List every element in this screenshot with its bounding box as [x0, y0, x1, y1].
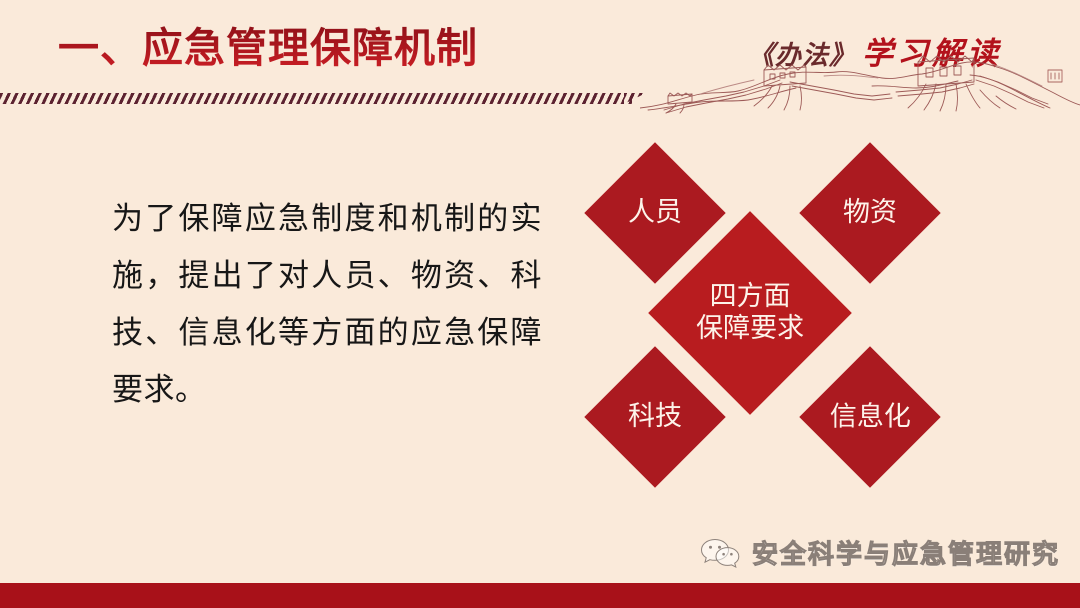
- body-paragraph: 为了保障应急制度和机制的实施，提出了对人员、物资、科技、信息化等方面的应急保障要…: [112, 190, 542, 418]
- watermark-label: 安全科学与应急管理研究: [752, 534, 1060, 571]
- brand-prefix-label: 《办法》: [748, 35, 856, 72]
- diagram-center-line-2: 保障要求: [696, 313, 804, 343]
- hatched-divider: [0, 93, 632, 104]
- diagram-node-center-label: 四方面 保障要求: [696, 281, 804, 345]
- diagram-center-line-1: 四方面: [710, 281, 791, 311]
- hatched-divider-tail: [624, 93, 646, 104]
- diagram-node-people-label: 人员: [628, 197, 682, 229]
- brand-suffix-label: 学习解读: [862, 28, 1002, 73]
- diagram-node-info[interactable]: 信息化: [799, 346, 940, 487]
- diagram-node-tech-label: 科技: [628, 401, 682, 433]
- diagram-node-supplies-label: 物资: [843, 197, 897, 229]
- four-aspects-diagram: 人员 物资 四方面 保障要求 科技 信息化: [560, 130, 960, 490]
- footer-bar: [0, 583, 1080, 608]
- page-title: 一、应急管理保障机制: [58, 22, 478, 74]
- brand-banner: 《办法》 学习解读: [748, 28, 1002, 73]
- slide-header: 一、应急管理保障机制 《办法》 学习解读: [0, 0, 1080, 118]
- watermark: 安全科学与应急管理研究: [700, 534, 1060, 571]
- diagram-node-supplies[interactable]: 物资: [799, 142, 940, 283]
- diagram-node-info-label: 信息化: [830, 401, 911, 433]
- wechat-icon: [700, 537, 740, 569]
- slide-canvas: 一、应急管理保障机制 《办法》 学习解读: [0, 0, 1080, 608]
